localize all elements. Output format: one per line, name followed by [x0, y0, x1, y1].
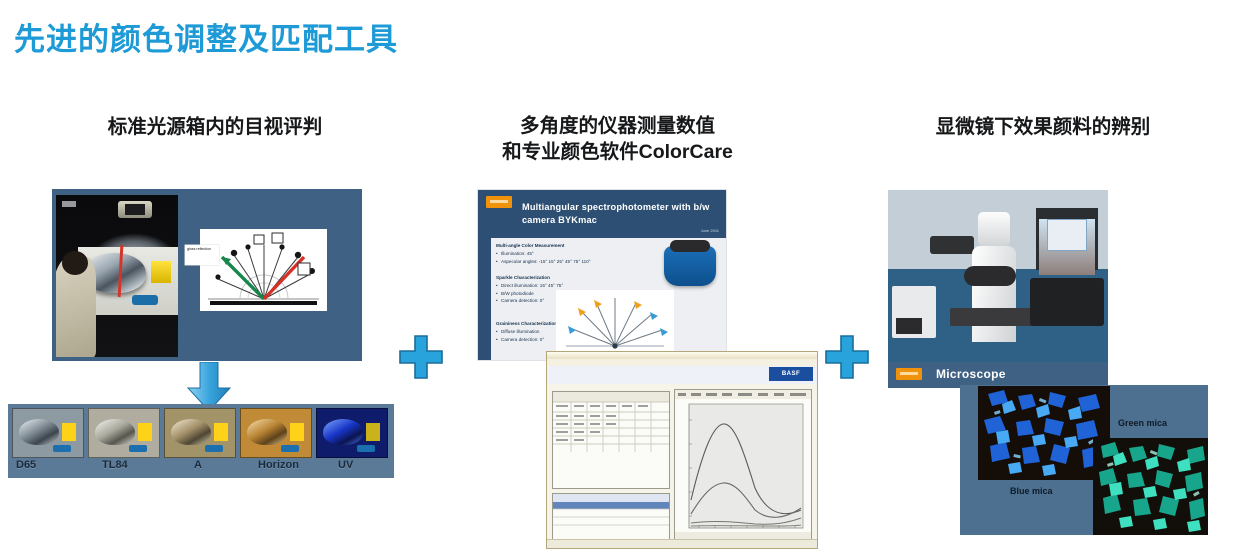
- computer-monitor: [1036, 208, 1098, 270]
- window-title-bar[interactable]: [547, 352, 817, 359]
- slide-text-block: Graininess Characterization Diffuse illu…: [496, 320, 557, 343]
- operator-head: [62, 251, 88, 275]
- swatch-blue-chip: [53, 445, 71, 452]
- basf-logo-icon: [896, 368, 922, 380]
- micrograph-label-green: Green mica: [1118, 418, 1167, 428]
- data-table-panel[interactable]: [553, 392, 669, 488]
- swatch-yellow-chip: [214, 423, 228, 441]
- block-title: Multi-angle Color Measurement: [496, 242, 591, 249]
- swatch-sample: [323, 419, 363, 445]
- block-title: Graininess Characterization: [496, 320, 557, 327]
- column-heading-microscope: 显微镜下效果颜料的辨别: [868, 115, 1218, 141]
- monitor-screen: [1039, 219, 1095, 275]
- illuminant-label: TL84: [102, 459, 128, 471]
- plus-svg: [824, 334, 870, 380]
- microscope-illuminator: [978, 212, 1010, 246]
- block-bullet: Diffuse illumination: [496, 328, 557, 335]
- sample-part-blue: [132, 295, 158, 305]
- swatch-blue-chip: [281, 445, 299, 452]
- illuminant-label: A: [194, 459, 202, 471]
- slide-date: June 2011: [701, 228, 719, 233]
- swatch-yellow-chip: [290, 423, 304, 441]
- plus-icon: [398, 334, 444, 380]
- computer-tower: [1030, 278, 1104, 326]
- bykmac-slide-card: Multiangular spectrophotometer with b/w …: [478, 190, 726, 360]
- block-bullet: Aspecular angles: -15° 15° 25° 45° 75° 1…: [496, 258, 591, 265]
- page-title: 先进的颜色调整及匹配工具: [14, 14, 398, 59]
- illuminant-swatch-strip: D65 TL84 A Horizon UV: [8, 404, 394, 478]
- sample-part-yellow: [151, 261, 171, 283]
- light-booth-photo: [56, 195, 178, 357]
- column-heading-instrument-line1: 多角度的仪器测量数值: [445, 114, 790, 140]
- slide-side-bar: [478, 238, 491, 360]
- reflection-diagram-svg: [200, 229, 327, 311]
- slide-body: Multi-angle Color Measurement Illuminati…: [478, 238, 726, 360]
- column-heading-instrument-line2: 和专业颜色软件ColorCare: [445, 140, 790, 166]
- illuminant-swatch[interactable]: [164, 408, 236, 458]
- gloss-reflection-label: gloss reflection: [185, 245, 219, 265]
- microscope-photo: [888, 190, 1108, 362]
- micrograph-label-blue: Blue mica: [1010, 486, 1053, 496]
- illuminant-label: UV: [338, 459, 353, 471]
- illuminant-label: Horizon: [258, 459, 299, 471]
- column-heading-instrument: 多角度的仪器测量数值 和专业颜色软件ColorCare: [445, 114, 790, 165]
- microscope-body: [972, 246, 1016, 342]
- swatch-sample: [19, 419, 59, 445]
- block-bullet: Camera detection: 0°: [496, 297, 563, 304]
- illuminant-swatch[interactable]: [240, 408, 312, 458]
- illuminant-swatch[interactable]: [316, 408, 388, 458]
- micrograph-blue: [978, 386, 1110, 480]
- block-bullet: Illumination: 45°: [496, 250, 591, 257]
- illuminant-swatch[interactable]: [12, 408, 84, 458]
- menu-bar[interactable]: [547, 359, 817, 366]
- swatch-blue-chip: [129, 445, 147, 452]
- spectral-chart-svg: [675, 390, 811, 542]
- power-supply-display: [896, 318, 922, 334]
- basf-brand-logo: BASF: [769, 367, 813, 381]
- swatch-blue-chip: [205, 445, 223, 452]
- measurement-angle-diagram: [556, 290, 674, 356]
- status-bar: [547, 539, 817, 548]
- swatch-blue-chip: [357, 445, 375, 452]
- micrograph-green-svg: [1093, 438, 1208, 535]
- gloss-reflection-text: gloss reflection: [187, 247, 211, 251]
- secondary-list-panel[interactable]: [553, 494, 669, 542]
- light-booth-panel: gloss reflection: [52, 189, 362, 361]
- data-table-svg: [553, 392, 669, 488]
- booth-tag: [62, 201, 76, 207]
- slide-text-block: Sparkle Characterization Direct illumina…: [496, 274, 563, 304]
- plus-icon: [824, 334, 870, 380]
- slide-title: Multiangular spectrophotometer with b/w …: [522, 201, 712, 228]
- slide-root: 先进的颜色调整及匹配工具 标准光源箱内的目视评判: [0, 0, 1260, 560]
- micrograph-blue-svg: [978, 386, 1110, 480]
- colorcare-software-window[interactable]: BASF: [547, 352, 817, 548]
- swatch-sample: [95, 419, 135, 445]
- block-bullet: Camera detection: 0°: [496, 336, 557, 343]
- basf-logo-icon: [486, 196, 512, 208]
- column-heading-visual: 标准光源箱内的目视评判: [40, 115, 390, 141]
- plus-svg: [398, 334, 444, 380]
- block-bullet: B/W photodiode: [496, 290, 563, 297]
- illuminant-swatch[interactable]: [88, 408, 160, 458]
- spectrophotometer-device-photo: [664, 246, 716, 286]
- block-title: Sparkle Characterization: [496, 274, 563, 281]
- block-bullet: Direct illumination: 15° 45° 75°: [496, 282, 563, 289]
- imaging-software-window: [1047, 219, 1087, 251]
- swatch-sample: [247, 419, 287, 445]
- microscope-caption: Microscope: [936, 367, 1006, 381]
- swatch-yellow-chip: [138, 423, 152, 441]
- microscope-stage: [950, 308, 1036, 326]
- swatch-sample: [171, 419, 211, 445]
- illuminant-label: D65: [16, 459, 36, 471]
- microscope-camera: [930, 236, 974, 254]
- swatch-yellow-chip: [62, 423, 76, 441]
- micrograph-green: [1093, 438, 1208, 535]
- measurement-diagram-svg: [556, 290, 674, 356]
- reflection-angle-diagram: [200, 229, 327, 311]
- microscope-eyepiece: [964, 266, 1016, 286]
- spectral-chart-panel[interactable]: [675, 390, 811, 542]
- secondary-list-svg: [553, 494, 669, 542]
- slide-text-block: Multi-angle Color Measurement Illuminati…: [496, 242, 591, 265]
- swatch-yellow-chip: [366, 423, 380, 441]
- booth-lamp-inner: [125, 204, 145, 215]
